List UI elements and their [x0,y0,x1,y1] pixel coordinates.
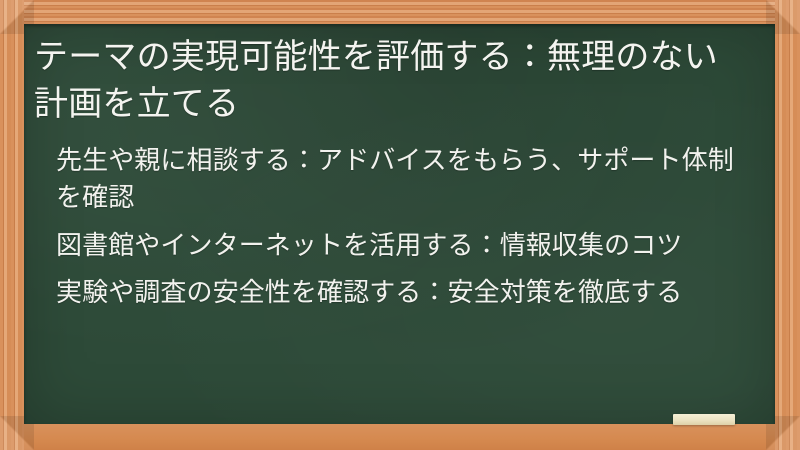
chalkboard-slide: テーマの実現可能性を評価する：無理のない計画を立てる 先生や親に相談する：アドバ… [0,0,800,450]
slide-point-1: 先生や親に相談する：アドバイスをもらう、サポート体制を確認 [34,142,747,217]
chalkboard-surface: テーマの実現可能性を評価する：無理のない計画を立てる 先生や親に相談する：アドバ… [24,24,775,424]
slide-title: テーマの実現可能性を評価する：無理のない計画を立てる [34,30,747,128]
slide-content: テーマの実現可能性を評価する：無理のない計画を立てる 先生や親に相談する：アドバ… [24,24,775,424]
chalk-stick-icon [673,414,735,425]
frame-left-stile [0,0,24,450]
frame-bottom-ledge [0,424,800,450]
slide-point-3: 実験や調査の安全性を確認する：安全対策を徹底する [34,274,747,311]
slide-points-list: 先生や親に相談する：アドバイスをもらう、サポート体制を確認 図書館やインターネッ… [34,128,747,312]
frame-top-rail [0,0,800,24]
frame-right-stile [775,0,800,450]
slide-point-2: 図書館やインターネットを活用する：情報収集のコツ [34,227,747,264]
